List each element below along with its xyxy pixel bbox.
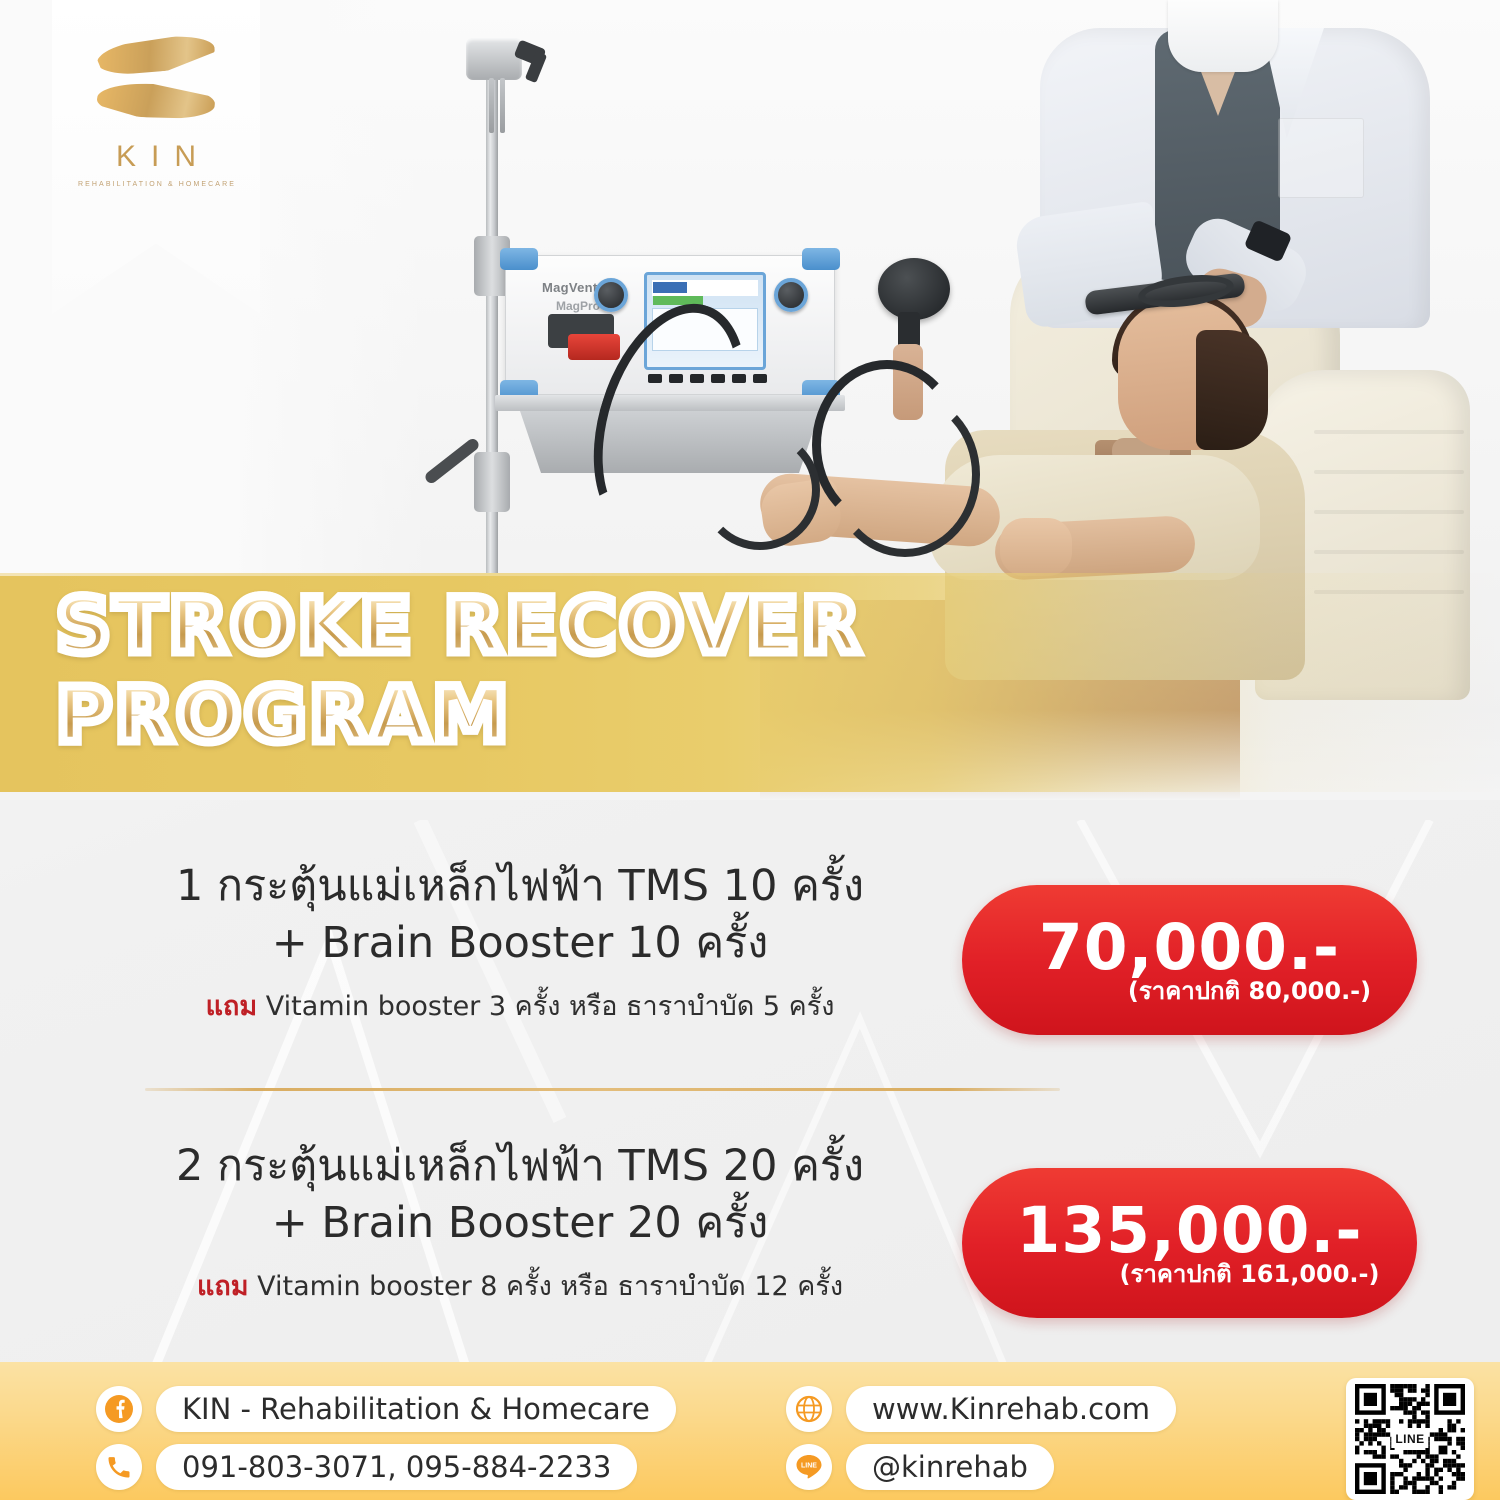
line-icon[interactable]: LINE [786, 1444, 832, 1490]
logo-tagline: REHABILITATION & HOMECARE [76, 181, 236, 188]
equipment-pole [486, 70, 498, 590]
package-1-bonus-text: Vitamin booster 3 ครั้ง หรือ ธาราบำบัด 5… [266, 991, 835, 1022]
console-red-connector [568, 334, 620, 360]
footer-phone-row[interactable]: 091-803-3071, 095-884-2233 [96, 1444, 676, 1490]
console-knob-left [594, 278, 628, 312]
title-line-2: PROGRAM [56, 677, 1056, 752]
phone-icon[interactable] [96, 1444, 142, 1490]
line-qr-code[interactable]: LINE [1346, 1378, 1474, 1500]
facebook-name[interactable]: KIN - Rehabilitation & Homecare [156, 1386, 676, 1432]
poster-title: STROKE RECOVER PROGRAM [56, 588, 1056, 752]
package-2-bonus-keyword: แถม [197, 1271, 249, 1302]
logo-wordmark: KIN [101, 140, 211, 174]
package-1-original-price: (ราคาปกติ 80,000.-) [1128, 971, 1371, 1010]
console-knob-right [774, 278, 808, 312]
svg-text:LINE: LINE [801, 1462, 817, 1469]
device-model-label: MagPro [556, 299, 600, 313]
package-2-bonus-text: Vitamin booster 8 ครั้ง หรือ ธาราบำบัด 1… [257, 1271, 843, 1302]
package-2-line-1: 2 กระตุ้นแม่เหล็กไฟฟ้า TMS 20 ครั้ง [120, 1138, 920, 1195]
spare-tms-coil [878, 258, 950, 320]
footer-line-row[interactable]: LINE @kinrehab [786, 1444, 1176, 1490]
footer-facebook-row[interactable]: KIN - Rehabilitation & Homecare [96, 1386, 676, 1432]
kin-brush-mark-icon [97, 38, 215, 124]
package-2-price-badge[interactable]: 135,000.- (ราคาปกติ 161,000.-) [962, 1168, 1417, 1318]
lab-coat-pocket [1278, 118, 1364, 198]
package-1-line-2: + Brain Booster 10 ครั้ง [120, 915, 920, 972]
package-1-bonus-keyword: แถม [206, 991, 258, 1022]
phone-numbers[interactable]: 091-803-3071, 095-884-2233 [156, 1444, 637, 1490]
package-divider [145, 1088, 1060, 1091]
pole-head-clamp [466, 38, 522, 80]
face-mask [1168, 0, 1278, 72]
website-url[interactable]: www.Kinrehab.com [846, 1386, 1176, 1432]
line-id[interactable]: @kinrehab [846, 1444, 1054, 1490]
package-2-original-price: (ราคาปกติ 161,000.-) [1120, 1254, 1380, 1293]
title-line-1: STROKE RECOVER [56, 588, 1056, 663]
package-2-bonus: แถม Vitamin booster 8 ครั้ง หรือ ธาราบำบ… [120, 1264, 920, 1307]
promo-poster: MagVenture MagPro [0, 0, 1500, 1500]
package-2-line-2: + Brain Booster 20 ครั้ง [120, 1195, 920, 1252]
globe-icon[interactable] [786, 1386, 832, 1432]
qr-center-label: LINE [1391, 1430, 1428, 1448]
footer-website-row[interactable]: www.Kinrehab.com [786, 1386, 1176, 1432]
package-1-bonus: แถม Vitamin booster 3 ครั้ง หรือ ธาราบำบ… [120, 984, 920, 1027]
footer-left-column: KIN - Rehabilitation & Homecare 091-803-… [96, 1386, 676, 1490]
package-1-price: 70,000.- [1039, 916, 1340, 979]
package-2-price: 135,000.- [1016, 1199, 1362, 1262]
package-1-price-badge[interactable]: 70,000.- (ราคาปกติ 80,000.-) [962, 885, 1417, 1035]
footer-right-column: www.Kinrehab.com LINE @kinrehab [786, 1386, 1176, 1490]
facebook-icon[interactable] [96, 1386, 142, 1432]
package-1-line-1: 1 กระตุ้นแม่เหล็กไฟฟ้า TMS 10 ครั้ง [120, 858, 920, 915]
